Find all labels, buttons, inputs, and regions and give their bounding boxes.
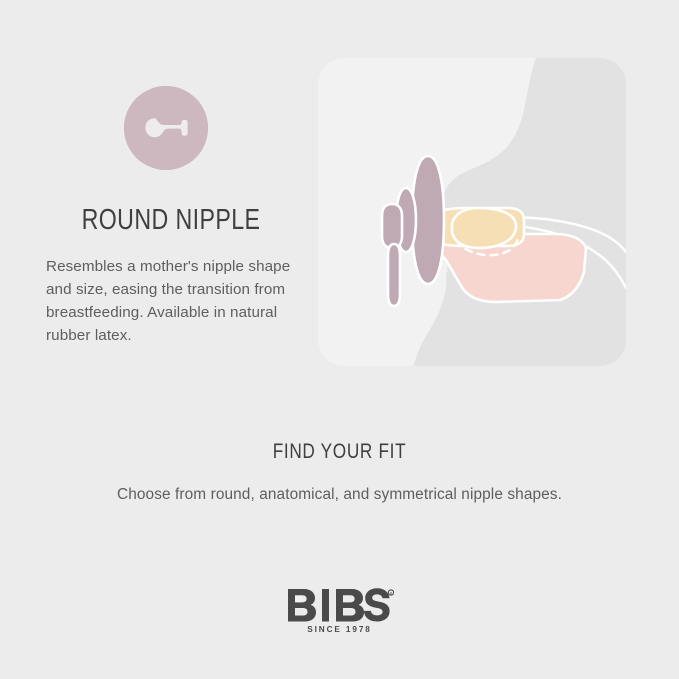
feature-description: Resembles a mother's nipple shape and si… — [46, 237, 296, 347]
pacifier-stem — [388, 244, 400, 306]
bibs-wordmark: R — [286, 588, 394, 622]
feature-title: ROUND NIPPLE — [71, 170, 271, 237]
brand-footer: R SINCE 1978 — [0, 588, 679, 637]
find-your-fit-block: FIND YOUR FIT Choose from round, anatomi… — [0, 440, 679, 504]
feature-text-column: ROUND NIPPLE Resembles a mother's nipple… — [46, 86, 296, 347]
feature-row: ROUND NIPPLE Resembles a mother's nipple… — [0, 0, 679, 395]
letter-b-second — [336, 589, 364, 622]
pacifier-ring — [382, 204, 402, 248]
find-your-fit-title: FIND YOUR FIT — [61, 440, 618, 464]
registered-mark-letter: R — [389, 591, 392, 595]
letter-b-first — [288, 589, 316, 622]
letter-s — [363, 588, 389, 621]
heart-icon — [295, 596, 302, 602]
round-nipple-shape-icon — [124, 86, 208, 170]
find-your-fit-subtitle: Choose from round, anatomical, and symme… — [0, 464, 679, 504]
letter-i — [322, 589, 329, 622]
pacifier-in-mouth-illustration — [318, 58, 626, 366]
bibs-logo: R SINCE 1978 — [286, 588, 394, 634]
round-nipple-shape-badge — [124, 86, 208, 170]
nipple-bulb — [452, 208, 516, 248]
illustration-card — [318, 58, 626, 366]
brand-since-tagline: SINCE 1978 — [286, 622, 394, 634]
product-infographic-page: ROUND NIPPLE Resembles a mother's nipple… — [0, 0, 679, 679]
